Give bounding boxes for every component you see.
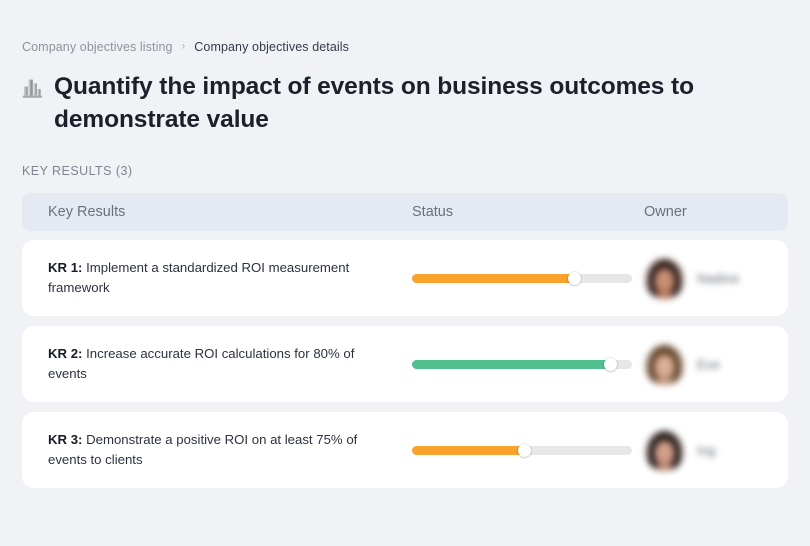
column-header-owner: Owner (644, 204, 788, 220)
progress-handle[interactable] (604, 358, 617, 371)
breadcrumb: Company objectives listing › Company obj… (22, 0, 788, 55)
progress-fill (412, 446, 524, 455)
progress-bar[interactable] (412, 446, 632, 455)
key-result-text-cell: KR 2: Increase accurate ROI calculations… (48, 344, 412, 384)
progress-bar[interactable] (412, 274, 632, 283)
key-result-description: Increase accurate ROI calculations for 8… (48, 346, 354, 381)
key-results-section-label: KEY RESULTS (3) (22, 164, 788, 178)
key-result-label: KR 1: (48, 260, 82, 275)
key-result-text-cell: KR 3: Demonstrate a positive ROI on at l… (48, 430, 412, 470)
owner-cell: Ing (644, 430, 788, 471)
owner-cell: Eve (644, 344, 788, 385)
progress-fill (412, 360, 610, 369)
key-result-description: Demonstrate a positive ROI on at least 7… (48, 432, 357, 467)
key-result-label: KR 3: (48, 432, 82, 447)
avatar[interactable] (644, 430, 685, 471)
chevron-right-icon: › (182, 39, 186, 55)
progress-handle[interactable] (568, 272, 581, 285)
page-title-row: Quantify the impact of events on busines… (22, 70, 722, 136)
table-body: KR 1: Implement a standardized ROI measu… (22, 240, 788, 488)
key-result-text-cell: KR 1: Implement a standardized ROI measu… (48, 258, 412, 298)
breadcrumb-parent-link[interactable]: Company objectives listing (22, 39, 173, 55)
progress-bar[interactable] (412, 360, 632, 369)
page-title: Quantify the impact of events on busines… (54, 70, 722, 136)
column-header-key-results: Key Results (48, 204, 412, 220)
key-result-description: Implement a standardized ROI measurement… (48, 260, 349, 295)
owner-name: Eve (697, 357, 720, 372)
breadcrumb-current: Company objectives details (194, 39, 349, 55)
owner-name: Nadine (697, 271, 739, 286)
status-cell (412, 274, 644, 283)
key-result-label: KR 2: (48, 346, 82, 361)
avatar[interactable] (644, 344, 685, 385)
owner-cell: Nadine (644, 258, 788, 299)
objective-details-page: Company objectives listing › Company obj… (0, 0, 810, 546)
owner-name: Ing (697, 443, 716, 458)
table-header-row: Key Results Status Owner (22, 193, 788, 231)
table-row[interactable]: KR 3: Demonstrate a positive ROI on at l… (22, 412, 788, 488)
key-results-table: Key Results Status Owner KR 1: Implement… (22, 193, 788, 488)
column-header-status: Status (412, 204, 644, 220)
table-row[interactable]: KR 1: Implement a standardized ROI measu… (22, 240, 788, 316)
cityscape-chart-icon (22, 77, 43, 99)
progress-fill (412, 274, 575, 283)
status-cell (412, 446, 644, 455)
table-row[interactable]: KR 2: Increase accurate ROI calculations… (22, 326, 788, 402)
status-cell (412, 360, 644, 369)
progress-handle[interactable] (518, 444, 531, 457)
avatar[interactable] (644, 258, 685, 299)
